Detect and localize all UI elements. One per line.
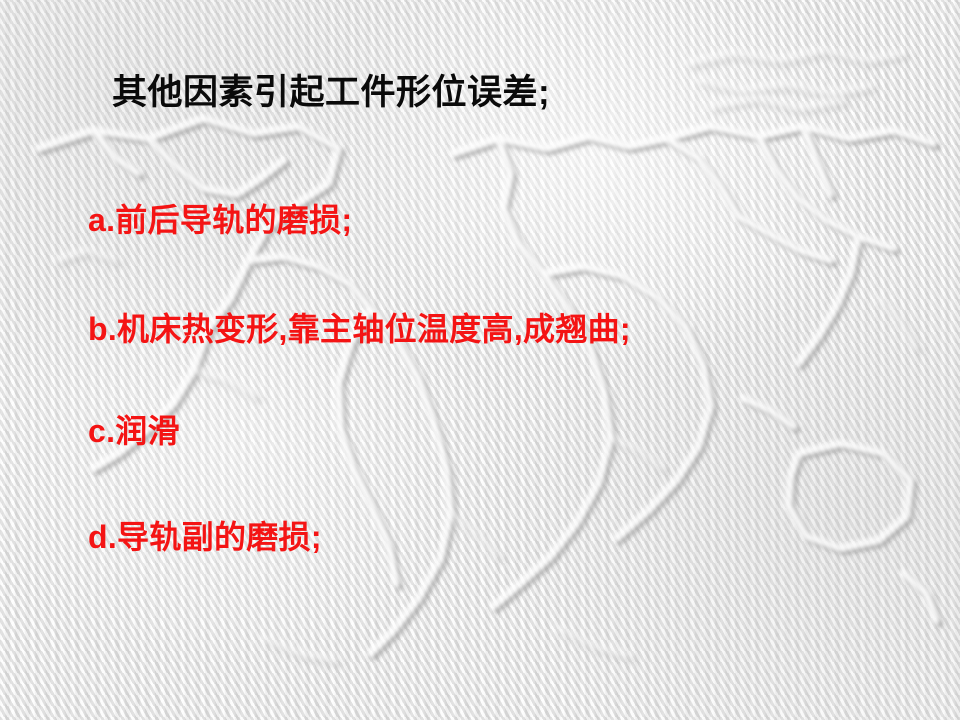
presentation-slide: 其他因素引起工件形位误差; a.前后导轨的磨损; b.机床热变形,靠主轴位温度高… <box>0 0 960 720</box>
bullet-item-d: d.导轨副的磨损; <box>88 518 322 556</box>
slide-content: 其他因素引起工件形位误差; a.前后导轨的磨损; b.机床热变形,靠主轴位温度高… <box>0 0 960 720</box>
slide-title: 其他因素引起工件形位误差; <box>112 72 550 114</box>
bullet-item-a: a.前后导轨的磨损; <box>88 201 352 239</box>
bullet-item-b: b.机床热变形,靠主轴位温度高,成翘曲; <box>88 310 631 348</box>
bullet-item-c: c.润滑 <box>88 412 180 450</box>
